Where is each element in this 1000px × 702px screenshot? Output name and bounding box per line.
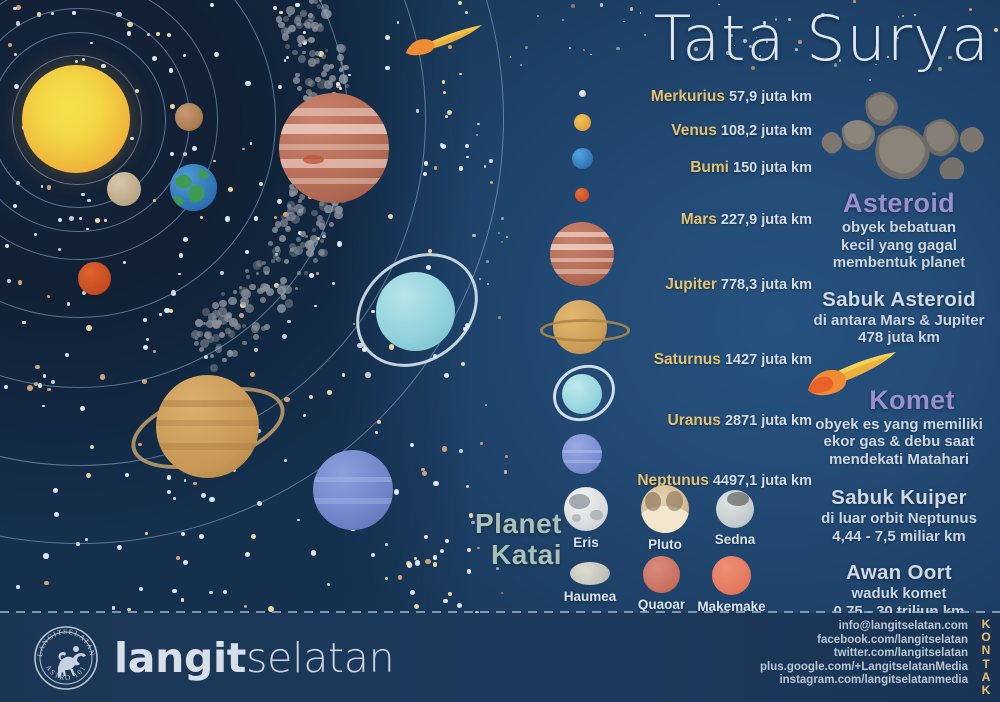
komet-heading: Komet (824, 385, 1000, 416)
komet-desc-3: mendekati Matahari (798, 451, 1000, 469)
uranus-body (376, 272, 455, 351)
asteroid-belt-desc-2: 478 juta km (798, 329, 1000, 347)
kuiper-desc-1: di luar orbit Neptunus (798, 510, 1000, 528)
planet-row-text: Jupiter 778,3 juta km (665, 276, 812, 294)
contact-line[interactable]: facebook.com/langitselatan (760, 634, 968, 648)
contact-line[interactable]: plus.google.com/+LangitselatanMedia (760, 661, 968, 675)
jupiter-body (279, 93, 389, 203)
contact-line[interactable]: info@langitselatan.com (760, 620, 968, 634)
contact-line[interactable]: instagram.com/langitselatanmedia (760, 674, 968, 688)
langitselatan-logo[interactable]: LANGITSELATAN ASTRO 101 (32, 624, 100, 692)
kontak-letter: K (976, 684, 996, 697)
neptune-icon (562, 434, 602, 474)
contact-line[interactable]: twitter.com/langitselatan (760, 647, 968, 661)
dwarf-planet-label: Haumea (548, 589, 632, 604)
earth-body (170, 164, 217, 211)
svg-text:LANGITSELATAN: LANGITSELATAN (36, 628, 96, 657)
saturn-icon (540, 300, 624, 354)
dwarf-planet-item: Makemake (690, 556, 773, 614)
planet-name: Saturnus (654, 351, 721, 368)
komet-desc-2: ekor gas & debu saat (798, 433, 1000, 451)
planet-row-text: Mars 227,9 juta km (681, 211, 812, 229)
asteroid-belt-block: Sabuk Asteroid di antara Mars & Jupiter … (798, 288, 1000, 347)
dwarf-planet-item: Sedna (694, 490, 776, 547)
planet-row-text: Venus 108,2 juta km (671, 122, 812, 140)
contact-list: info@langitselatan.comfacebook.com/langi… (760, 620, 968, 688)
planet-row-text: Bumi 150 juta km (690, 159, 812, 177)
planet-row-text: Saturnus 1427 juta km (654, 351, 812, 369)
dwarf-planet-label: Eris (542, 535, 630, 550)
planet-name: Uranus (668, 412, 721, 429)
neptune-body (313, 450, 393, 530)
quaoar-icon (643, 556, 680, 593)
kuiper-desc-2: 4,44 - 7,5 miliar km (798, 528, 1000, 546)
infographic-poster: Tata Surya Merkurius 57,9 juta kmVenus 1… (0, 0, 1000, 702)
sedna-icon (716, 490, 754, 528)
kontak-letter: N (976, 644, 996, 657)
makemake-icon (712, 556, 751, 595)
mars-icon (575, 188, 589, 202)
asteroid-heading: Asteroid (798, 188, 1000, 219)
asteroid-belt-desc-1: di antara Mars & Jupiter (798, 312, 1000, 330)
oort-desc-1: waduk komet (798, 585, 1000, 603)
asteroid-desc-1: obyek bebatuan (798, 219, 1000, 237)
page-title: Tata Surya (566, 2, 990, 75)
jupiter-bands (279, 93, 389, 203)
sun-body (22, 65, 130, 173)
haumea-icon (570, 562, 610, 585)
kuiper-block: Sabuk Kuiper di luar orbit Neptunus 4,44… (798, 486, 1000, 545)
asteroid-block: Asteroid obyek bebatuan kecil yang gagal… (798, 188, 1000, 272)
komet-block: Komet obyek es yang memiliki ekor gas & … (798, 385, 1000, 469)
asteroid-belt-heading: Sabuk Asteroid (798, 288, 1000, 312)
mercury-icon (579, 90, 586, 97)
planet-name: Merkurius (651, 88, 725, 105)
kontak-vertical-label: KONTAK (976, 618, 996, 697)
brand-bold: langit (114, 634, 246, 682)
footer-divider (0, 611, 1000, 613)
komet-desc-1: obyek es yang memiliki (798, 416, 1000, 434)
brand-light: selatan (246, 634, 394, 682)
pluto-icon (641, 485, 689, 533)
kuiper-heading: Sabuk Kuiper (798, 486, 1000, 510)
asteroid-desc-3: membentuk planet (798, 254, 1000, 272)
logo-arc-top-text: LANGITSELATAN (36, 628, 96, 657)
venus-body (107, 172, 141, 206)
venus-icon (574, 114, 591, 131)
planet-name: Bumi (690, 159, 729, 176)
planet-name: Venus (671, 122, 717, 139)
eris-icon (564, 487, 608, 531)
brand-wordmark: langitselatan (114, 634, 394, 682)
asteroid-desc-2: kecil yang gagal (798, 237, 1000, 255)
dwarf-planet-item: Eris (542, 487, 630, 550)
dwarf-planet-item: Haumea (548, 562, 632, 604)
oort-heading: Awan Oort (798, 561, 1000, 585)
saturn-body (156, 375, 259, 478)
planet-row-text: Merkurius 57,9 juta km (651, 88, 812, 106)
kontak-letter: T (976, 658, 996, 671)
jupiter-icon (550, 222, 614, 286)
comet-icon-left (404, 22, 488, 56)
right-info-column: Asteroid obyek bebatuan kecil yang gagal… (798, 92, 1000, 620)
uranus-icon (550, 364, 614, 418)
planet-name: Jupiter (665, 276, 717, 293)
mars-body (78, 262, 111, 295)
planet-row-text: Uranus 2871 juta km (668, 412, 813, 430)
dwarf-planet-label: Sedna (694, 532, 776, 547)
mercury-body (175, 103, 203, 131)
earth-icon (572, 148, 593, 169)
planet-name: Mars (681, 211, 717, 228)
